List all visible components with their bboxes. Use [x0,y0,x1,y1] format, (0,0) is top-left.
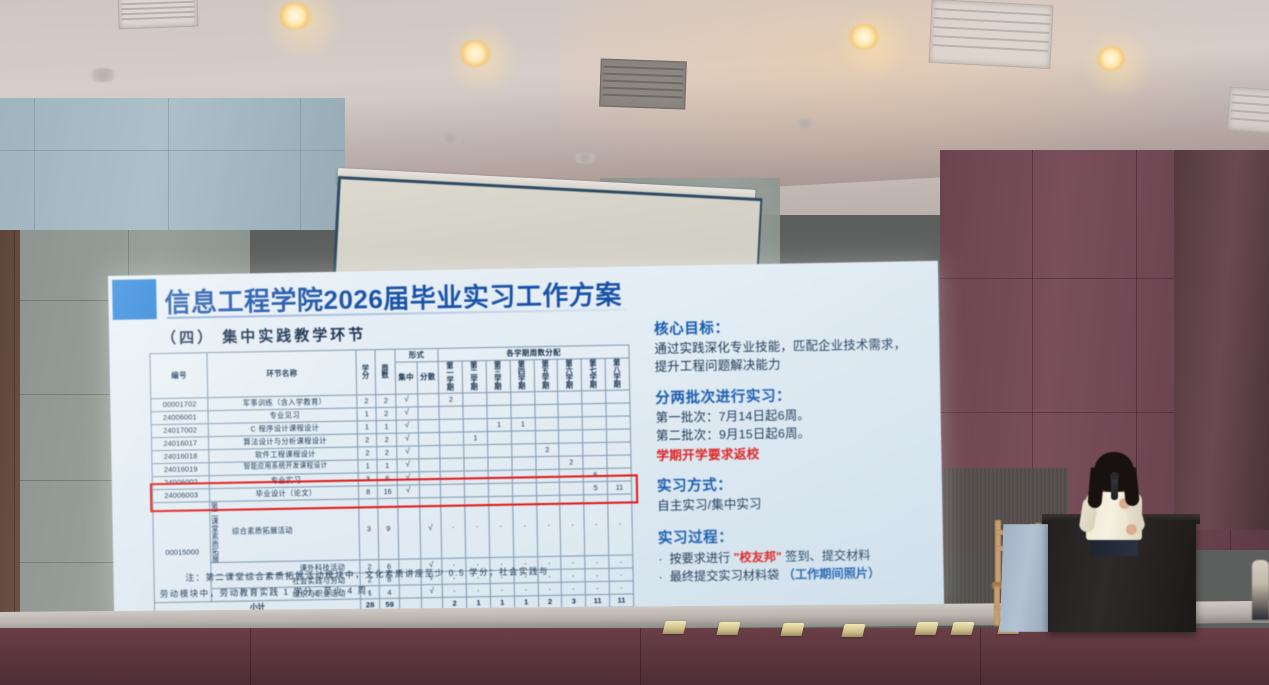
cell-sem-5 [535,430,559,443]
th-sem-8: 第八学期 [605,358,630,390]
cell-sem-5 [534,391,558,404]
cell-sem-3 [487,392,511,405]
cell-credits: 8 [358,485,378,498]
cell-weeks: 1 [377,459,397,472]
cell-code: 24006003 [152,488,210,502]
footnote-label: 注： [185,572,205,582]
mode-heading: 实习方式： [657,470,927,496]
cell-distributed [418,445,440,458]
th-weeks: 周数 [375,349,395,394]
cell-sem-7 [583,455,607,468]
th-sem-7: 第七学期 [581,358,605,390]
cell-sem-8 [607,455,631,468]
th-sem-5: 第五学期 [534,359,558,391]
cell-concentrated: √ [397,458,419,471]
cell-sem-4: · [512,495,537,557]
cell-sem-6 [558,390,582,403]
cell-sem-7 [582,390,606,403]
bullet-icon: · [658,568,662,586]
cell-sem-8: 11 [607,481,631,494]
process-item-2-pre: 最终提交实习材料袋 [670,568,783,584]
process-item-2: · 最终提交实习材料袋 （工作期间照片） [658,563,928,586]
recessed-fixture-1 [88,68,118,82]
cell-sem-6: 2 [559,455,583,468]
cell-code: 24017002 [151,423,209,437]
cell-code: 24016017 [151,436,209,450]
ceiling-vent-center [599,59,687,110]
goal-heading: 核心目标： [654,313,924,339]
cell-sem-8 [607,468,631,481]
cell-concentrated: √ [396,419,418,432]
cell-sem-7 [582,416,606,429]
stage-front-panel [0,628,1269,685]
cell-weeks: 9 [378,498,399,560]
cell-sem-7: 6 [583,468,607,481]
process-item-1-emphasis: "校友邦" [734,550,782,565]
cell-weeks: 16 [378,485,398,498]
cell-sem-4 [510,391,534,404]
footnote-line-1: 第二课堂综合素质拓展活动模块中，文化素质讲座至少 0.5 学分；社会实践与 [205,566,549,582]
cell-concentrated: √ [396,432,418,445]
cell-sem-3 [487,405,511,418]
cell-sem-3 [488,483,512,496]
stage-footlight [914,622,938,635]
group-vertical-label: 第二课堂素质拓展 [211,502,220,563]
stage-footlight [662,621,686,634]
lecture-hall-photo: 信息工程学院2026届毕业实习工作方案 （四） 集中实践教学环节 编号 环节名称… [0,0,1269,685]
cell-sem-7: · [584,494,609,556]
cell-concentrated: √ [397,445,419,458]
cell-weeks: 2 [377,446,397,459]
stage-footlight [780,623,804,636]
th-form-distributed: 分散 [417,361,439,393]
cell-sem-3 [488,470,512,483]
th-form-concentrated: 集中 [395,362,417,394]
cell-sem-8 [606,403,630,416]
cell-sem-6 [558,403,582,416]
presenter [1078,452,1152,536]
cell-sem-5 [535,456,559,469]
recessed-fixture-5 [792,118,818,130]
cell-credits: 1 [357,407,377,420]
slide-right-panel: 核心目标： 通过实践深化专业技能，匹配企业技术需求， 提升工程问题解决能力 分两… [654,313,929,587]
th-sem-6: 第六学期 [557,359,581,391]
downlight-1 [278,2,312,30]
cell-sem-5 [536,469,560,482]
ceiling-vent-left [117,0,198,29]
microphone-head [1110,472,1119,480]
cell-sem-2 [464,457,488,470]
bullet-icon: · [658,550,662,568]
cell-sem-1 [439,419,463,432]
cell-distributed [418,432,440,445]
cell-sem-7 [583,429,607,442]
recessed-fixture-3 [436,132,464,145]
cell-sem-6 [559,416,583,429]
cell-sem-5 [534,404,558,417]
cell-credits: 3 [358,498,379,560]
seated-person-far-right [1252,560,1269,620]
footnote-line-2: 劳动模块中，劳动教育实践 1 学分。至少 4 周。 [160,585,378,599]
cell-sem-3 [487,431,511,444]
cell-distributed [417,406,439,419]
cell-code: 24006001 [151,410,209,424]
cell-weeks: 2 [377,433,397,446]
th-form-group: 形式 [395,348,439,362]
th-sem-2: 第二学期 [462,361,486,393]
cell-group-name-wrap: 第二课堂素质拓展 综合素质拓展活动 [210,499,360,564]
cell-sem-5: 2 [535,443,559,456]
cell-weeks: 2 [376,394,396,407]
cell-code: 00001702 [151,397,209,411]
process-heading: 实习过程： [658,522,928,548]
presenter-hand-left [1126,524,1137,535]
cell-weeks: 1 [377,420,397,433]
cell-sem-1 [440,445,464,458]
cell-sem-6 [559,468,583,481]
cell-distributed [418,419,440,432]
cell-sem-4: 1 [511,417,535,430]
stage-footlight [716,622,740,635]
cell-credits: 1 [357,420,377,433]
cell-sem-3: 1 [487,418,511,431]
cell-sem-7 [582,403,606,416]
cell-sem-2: 1 [463,431,487,444]
cell-credits: 2 [357,394,377,407]
process-item-2-emphasis: （工作期间照片） [783,566,881,582]
wall-dark-far-right [1174,150,1269,530]
cell-distributed [417,393,439,406]
cell-distributed [419,484,441,497]
cell-concentrated: √ [396,393,418,406]
cell-sem-2 [463,405,487,418]
cell-concentrated: √ [397,471,419,484]
cell-credits: 2 [357,433,377,446]
cell-sem-2 [463,392,487,405]
cell-sem-4 [512,482,536,495]
process-item-2-text: 最终提交实习材料袋 （工作期间照片） [670,564,881,586]
th-sem-1: 第一学期 [438,361,462,393]
cell-sem-6 [560,481,584,494]
cell-sem-3 [488,444,512,457]
cell-weeks: 6 [378,472,398,485]
cell-sem-1: 2 [439,393,463,406]
cell-sem-8 [606,416,630,429]
cell-sem-2 [464,483,488,496]
cell-code: 24016018 [152,449,210,463]
slide-section-heading: （四） 集中实践教学环节 [161,323,367,348]
cell-sem-7 [583,442,607,455]
cell-sem-1: · [441,497,466,559]
cell-sem-8 [606,390,630,403]
cell-sem-2: · [465,496,490,558]
projected-slide: 信息工程学院2026届毕业实习工作方案 （四） 集中实践教学环节 编号 环节名称… [108,261,944,636]
cell-distributed: √ [419,497,442,559]
cell-credits: 1 [358,459,378,472]
cell-sem-3 [488,457,512,470]
cell-concentrated: √ [396,406,418,419]
cell-sem-4 [511,443,535,456]
table-row-group: 00015000 第二课堂素质拓展 综合素质拓展活动 3 9 √ · · · [153,494,633,565]
cell-distributed [418,458,440,471]
th-code: 编号 [150,353,208,399]
wall-panel-blue-upper [0,98,345,230]
cell-sem-8 [606,429,630,442]
batch-heading: 分两批次进行实习： [655,382,925,408]
process-item-1-post: 签到、提交材料 [782,548,871,564]
cell-concentrated [397,497,420,559]
slide-accent-rectangle [112,279,157,320]
cell-sem-2 [463,418,487,431]
th-name: 环节名称 [207,350,356,397]
cell-sem-1 [439,406,463,419]
cell-sem-2 [464,444,488,457]
cell-sem-3: · [488,496,513,558]
ceiling-vent-right [928,0,1053,69]
cell-sem-6 [559,429,583,442]
cell-sem-8: · [608,494,633,556]
cell-sem-5: · [536,495,561,557]
cell-sem-4 [511,404,535,417]
stage-footlight [841,624,865,637]
cell-sem-4 [512,456,536,469]
cell-sem-6: · [560,494,585,556]
cell-sem-1 [441,484,465,497]
cell-sem-6 [559,442,583,455]
cell-credits: 3 [358,472,378,485]
ceiling-vent-far-right [1227,86,1269,133]
cell-credits: 2 [358,446,378,459]
cell-sem-5 [535,417,559,430]
cell-sem-4 [512,469,536,482]
th-sem-3: 第三学期 [486,360,510,392]
cell-sem-7: 5 [584,481,608,494]
th-credits: 学分 [356,350,376,395]
stage-footlight [950,622,974,635]
cell-sem-2 [464,470,488,483]
cell-code: 24006002 [152,475,210,489]
downlight-3 [848,24,880,50]
cell-code: 24016019 [152,462,210,476]
cell-distributed [419,471,441,484]
cell-sem-1 [440,458,464,471]
downlight-2 [459,40,491,67]
process-item-1-pre: 按要求进行 [669,551,734,566]
cell-sem-1 [440,432,464,445]
cell-name: 综合素质拓展活动 [221,527,303,536]
cell-sem-5 [536,482,560,495]
cell-weeks: 2 [376,407,396,420]
cell-sem-4 [511,430,535,443]
recessed-fixture-4 [572,152,598,164]
th-sem-4: 第四学期 [510,360,534,392]
downlight-4 [1096,46,1126,71]
cell-sem-1 [440,471,464,484]
cell-sem-8 [607,442,631,455]
cell-concentrated: √ [397,484,419,497]
